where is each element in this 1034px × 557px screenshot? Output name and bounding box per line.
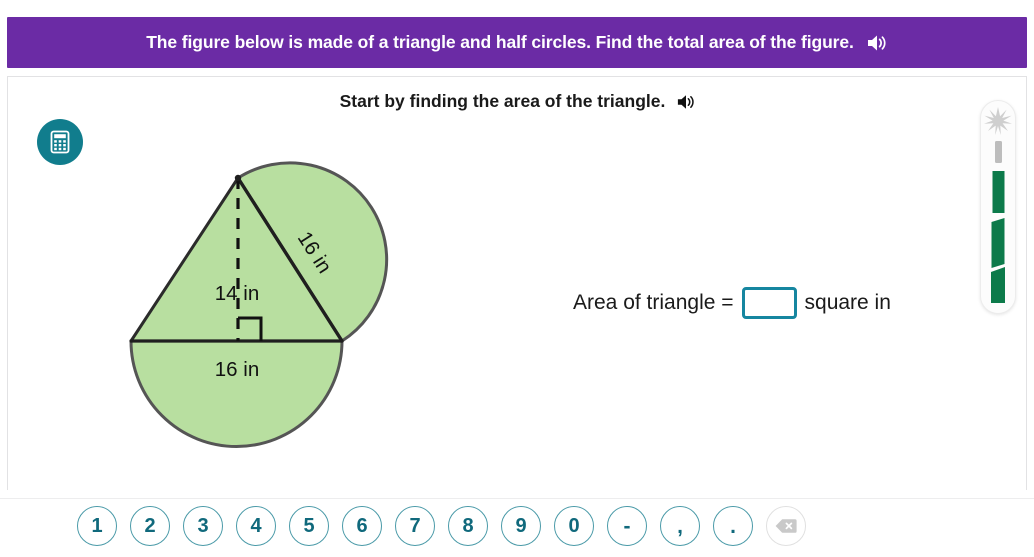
keypad-bar: 1234567890-,. Enter <box>0 498 1034 557</box>
key-2[interactable]: 2 <box>130 506 170 546</box>
key-5[interactable]: 5 <box>289 506 329 546</box>
progress-segment <box>993 171 1005 213</box>
page-title: The figure below is made of a triangle a… <box>146 32 854 53</box>
key-7[interactable]: 7 <box>395 506 435 546</box>
header-banner: The figure below is made of a triangle a… <box>7 17 1027 68</box>
key-0[interactable]: 0 <box>554 506 594 546</box>
answer-row: Area of triangle = square in <box>573 287 891 319</box>
key-1[interactable]: 1 <box>77 506 117 546</box>
sparkle-star-icon <box>984 107 1012 135</box>
key-4[interactable]: 4 <box>236 506 276 546</box>
prompt-row: Start by finding the area of the triangl… <box>8 91 1028 112</box>
key-comma[interactable]: , <box>660 506 700 546</box>
key-period[interactable]: . <box>713 506 753 546</box>
content-card: Start by finding the area of the triangl… <box>7 76 1027 490</box>
keypad-keys: 1234567890-,. <box>77 506 806 546</box>
answer-input[interactable] <box>742 287 797 319</box>
key-3[interactable]: 3 <box>183 506 223 546</box>
progress-segment <box>995 141 1002 163</box>
key-8[interactable]: 8 <box>448 506 488 546</box>
prompt-text: Start by finding the area of the triangl… <box>340 91 666 112</box>
activity-screen: The figure below is made of a triangle a… <box>0 0 1034 557</box>
backspace-icon <box>775 518 797 534</box>
answer-units: square in <box>805 291 891 315</box>
backspace-button[interactable] <box>766 506 806 546</box>
key-6[interactable]: 6 <box>342 506 382 546</box>
speaker-icon[interactable] <box>866 33 888 53</box>
speaker-icon[interactable] <box>676 93 696 111</box>
key-minus[interactable]: - <box>607 506 647 546</box>
progress-segment <box>992 218 1005 268</box>
answer-label: Area of triangle = <box>573 291 734 315</box>
calculator-icon <box>49 130 71 154</box>
progress-meter <box>980 100 1016 314</box>
calculator-button[interactable] <box>37 119 83 165</box>
key-9[interactable]: 9 <box>501 506 541 546</box>
progress-segment <box>991 267 1005 303</box>
